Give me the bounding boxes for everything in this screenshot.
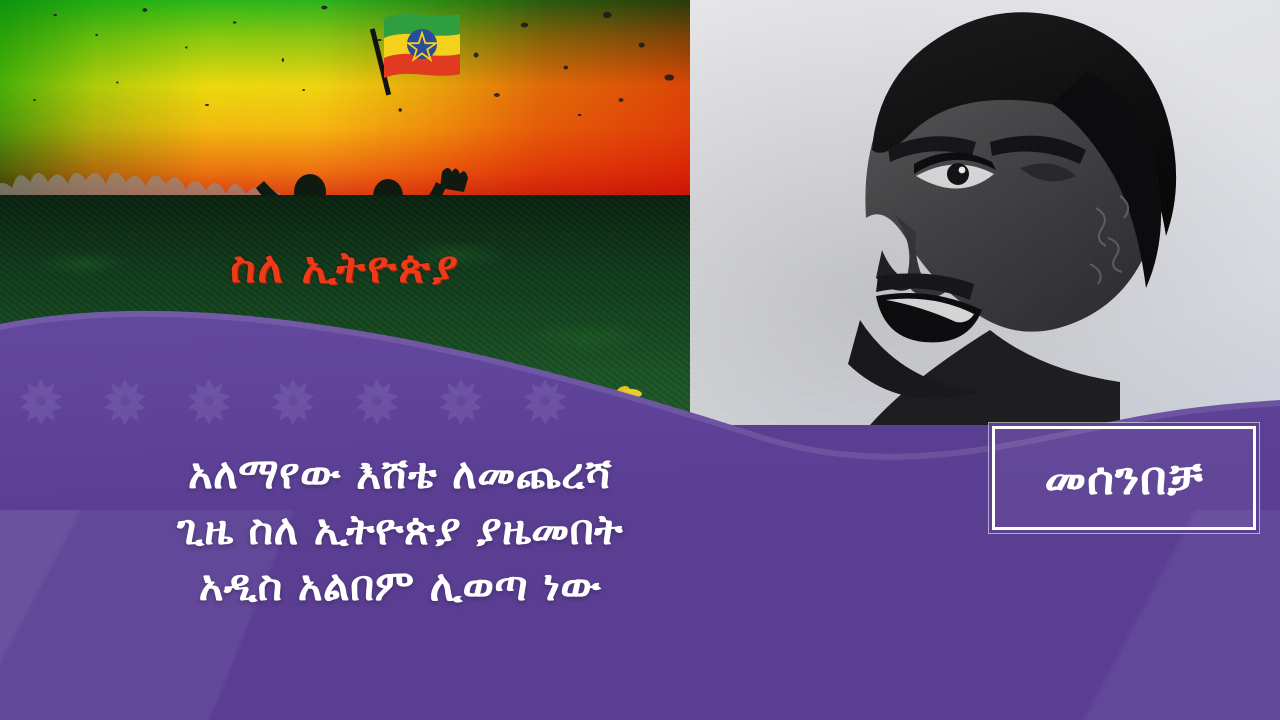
headline-line-1: አለማየው እሸቴ ለመጨረሻ (0, 446, 800, 502)
eight-point-star-rosette-icon (102, 378, 148, 424)
headline-text: አለማየው እሸቴ ለመጨረሻ ጊዜ ስለ ኢትዮጵያ ያዜመበት አዲስ አል… (0, 446, 800, 614)
channel-badge: መሰንበቻ (992, 426, 1256, 530)
headline-line-2: ጊዜ ስለ ኢትዮጵያ ያዜመበት (0, 502, 800, 558)
youtube-thumbnail: ስለ ኢትዮጵያ (0, 0, 1280, 720)
eight-point-star-rosette-icon (186, 378, 232, 424)
eight-point-star-rosette-icon (270, 378, 316, 424)
eight-point-star-rosette-icon (354, 378, 400, 424)
headline-line-3: አዲስ አልበም ሊወጣ ነው (0, 558, 800, 614)
channel-badge-label: መሰንበቻ (1044, 455, 1203, 501)
eight-point-star-rosette-icon (522, 378, 568, 424)
ethiopian-flag-icon (338, 6, 468, 96)
eight-point-star-rosette-icon (18, 378, 64, 424)
rosette-decor-row (18, 378, 638, 436)
eight-point-star-rosette-icon (438, 378, 484, 424)
